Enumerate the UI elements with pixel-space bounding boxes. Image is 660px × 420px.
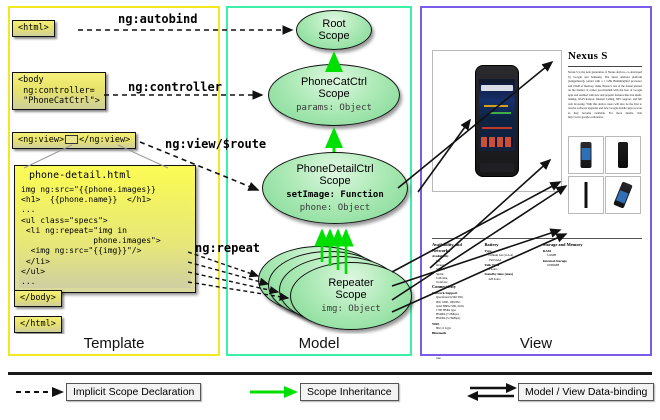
scope-phonecatctrl-name-line2: Scope: [318, 88, 349, 100]
spec-value-battery-type-1: 1500 mAh: [484, 258, 538, 262]
connector-label-view-route: ng:view/$route: [165, 137, 266, 151]
tag-ngview-close: </ng:view>: [79, 135, 130, 145]
thumbnail-phone-angled[interactable]: [605, 176, 641, 214]
legend-divider: [8, 372, 652, 375]
scope-phonedetailctrl: PhoneDetailCtrl Scope setImage: Function…: [262, 152, 408, 224]
scope-repeater: Repeater Scope img: Object: [290, 262, 412, 330]
phone-device-illustration: [475, 65, 519, 177]
connector-label-repeat: ng:repeat: [195, 241, 260, 255]
phone-back-icon: [618, 142, 628, 168]
view-rendered-page: Nexus S Nexus S is the next generation o…: [428, 14, 644, 326]
phone-wallpaper-line-3: [482, 127, 512, 129]
tag-ngview: <ng:view></ng:view>: [12, 132, 136, 149]
scope-phonecatctrl-name-line1: PhoneCatCtrl: [301, 76, 367, 88]
scope-repeater-stack: Repeater Scope img: Object: [258, 246, 418, 334]
column-label-model: Model: [226, 334, 412, 356]
spec-heading-availability: Availability and Networks: [432, 242, 480, 253]
scope-phonecatctrl: PhoneCatCtrl Scope params: Object: [268, 64, 400, 126]
legend-dashed-arrow-icon: [14, 385, 66, 399]
phone-hardware-keys: [480, 163, 514, 172]
thumbnail-phone-front[interactable]: [568, 136, 604, 174]
spec-value-wifi-0: 802.11 b/g/n: [432, 326, 484, 330]
phone-detail-code-card: phone-detail.html img ng:src="{{phone.im…: [14, 165, 196, 293]
legend-double-arrow-icon: [466, 383, 518, 401]
scope-repeater-name-line1: Repeater: [328, 277, 373, 289]
phone-angled-icon: [613, 181, 633, 208]
legend-item-data-binding: Model / View Data-binding: [466, 383, 654, 401]
page-title: Nexus S: [568, 50, 608, 62]
phone-status-bar: [479, 79, 515, 83]
phone-wallpaper-line-1: [484, 105, 508, 107]
phone-screen: [479, 79, 515, 151]
scope-root-name-line1: Root: [322, 18, 345, 30]
spec-value-storage-internal-0: 16384MB: [543, 263, 595, 267]
tag-ngview-open: <ng:view>: [18, 135, 64, 145]
column-label-view: View: [420, 334, 652, 356]
spec-value-storage-ram-0: 512MB: [543, 253, 595, 257]
code-card-body: img ng:src="{{phone.images}} <h1> {{phon…: [19, 184, 191, 288]
phone-front-icon: [581, 142, 592, 168]
spec-heading-battery: Battery: [484, 242, 538, 248]
scope-phonedetailctrl-name-line2: Scope: [319, 175, 350, 187]
legend-item-implicit-scope: Implicit Scope Declaration: [14, 383, 201, 401]
legend-label-scope-inheritance: Scope Inheritance: [300, 383, 399, 401]
scope-phonecatctrl-prop-params: params: Object: [296, 103, 372, 113]
legend-solid-arrow-icon: [248, 385, 300, 399]
scope-root-name-line2: Scope: [318, 30, 349, 42]
ngview-placeholder-icon: [65, 135, 78, 144]
thumbnail-phone-back[interactable]: [605, 136, 641, 174]
spec-value-gps-0: true: [432, 356, 484, 360]
diagram-canvas: <html> <body ng:controller= "PhoneCatCtr…: [0, 0, 660, 420]
thumbnail-grid: [568, 136, 646, 216]
phone-wallpaper-line-2: [489, 112, 511, 114]
scope-repeater-name-line2: Scope: [335, 289, 366, 301]
spec-heading-storage: Storage and Memory: [543, 242, 595, 248]
spec-value-battery-talktime-0: 6 hours: [484, 267, 538, 271]
scope-phonedetailctrl-name-line1: PhoneDetailCtrl: [296, 163, 373, 175]
page-title-rule: [568, 66, 642, 67]
specs-divider: [432, 238, 642, 239]
phone-search-widget: [481, 85, 513, 91]
phone-side-icon: [585, 182, 588, 208]
spec-column-battery: Battery Type Lithium Ion (Li-Ion) 1500 m…: [484, 242, 538, 281]
spec-value-battery-standby-0: 428 hours: [484, 277, 538, 281]
connector-label-autobind: ng:autobind: [118, 12, 197, 26]
connector-label-controller: ng:controller: [128, 80, 222, 94]
scope-root: Root Scope: [296, 10, 372, 50]
tag-body-close: </body>: [14, 290, 62, 307]
page-body-text: Nexus S is the next generation of Nexus …: [568, 70, 642, 120]
code-card-title: phone-detail.html: [19, 169, 191, 184]
scope-repeater-prop-img: img: Object: [321, 304, 381, 314]
phone-hero-image: [432, 50, 562, 192]
spec-column-availability: Availability and Networks Availability M…: [432, 242, 480, 284]
scope-phonedetailctrl-prop-setimage: setImage: Function: [286, 190, 384, 200]
spec-heading-connectivity: Connectivity: [432, 284, 484, 290]
column-label-template: Template: [8, 334, 220, 356]
thumbnail-phone-side[interactable]: [568, 176, 604, 214]
legend-label-implicit-scope: Implicit Scope Declaration: [66, 383, 201, 401]
spec-value-network-5: HSUPA (5.76Mbps): [432, 316, 484, 320]
legend-label-data-binding: Model / View Data-binding: [518, 383, 654, 401]
spec-column-storage: Storage and Memory RAM 512MB Internal St…: [543, 242, 595, 267]
tag-html-open: <html>: [12, 20, 55, 37]
legend-item-scope-inheritance: Scope Inheritance: [248, 383, 399, 401]
scope-phonedetailctrl-prop-phone: phone: Object: [300, 203, 370, 213]
tag-body-open: <body ng:controller= "PhoneCatCtrl">: [12, 72, 106, 110]
tag-html-close: </html>: [14, 316, 62, 333]
phone-app-icons: [481, 137, 513, 147]
